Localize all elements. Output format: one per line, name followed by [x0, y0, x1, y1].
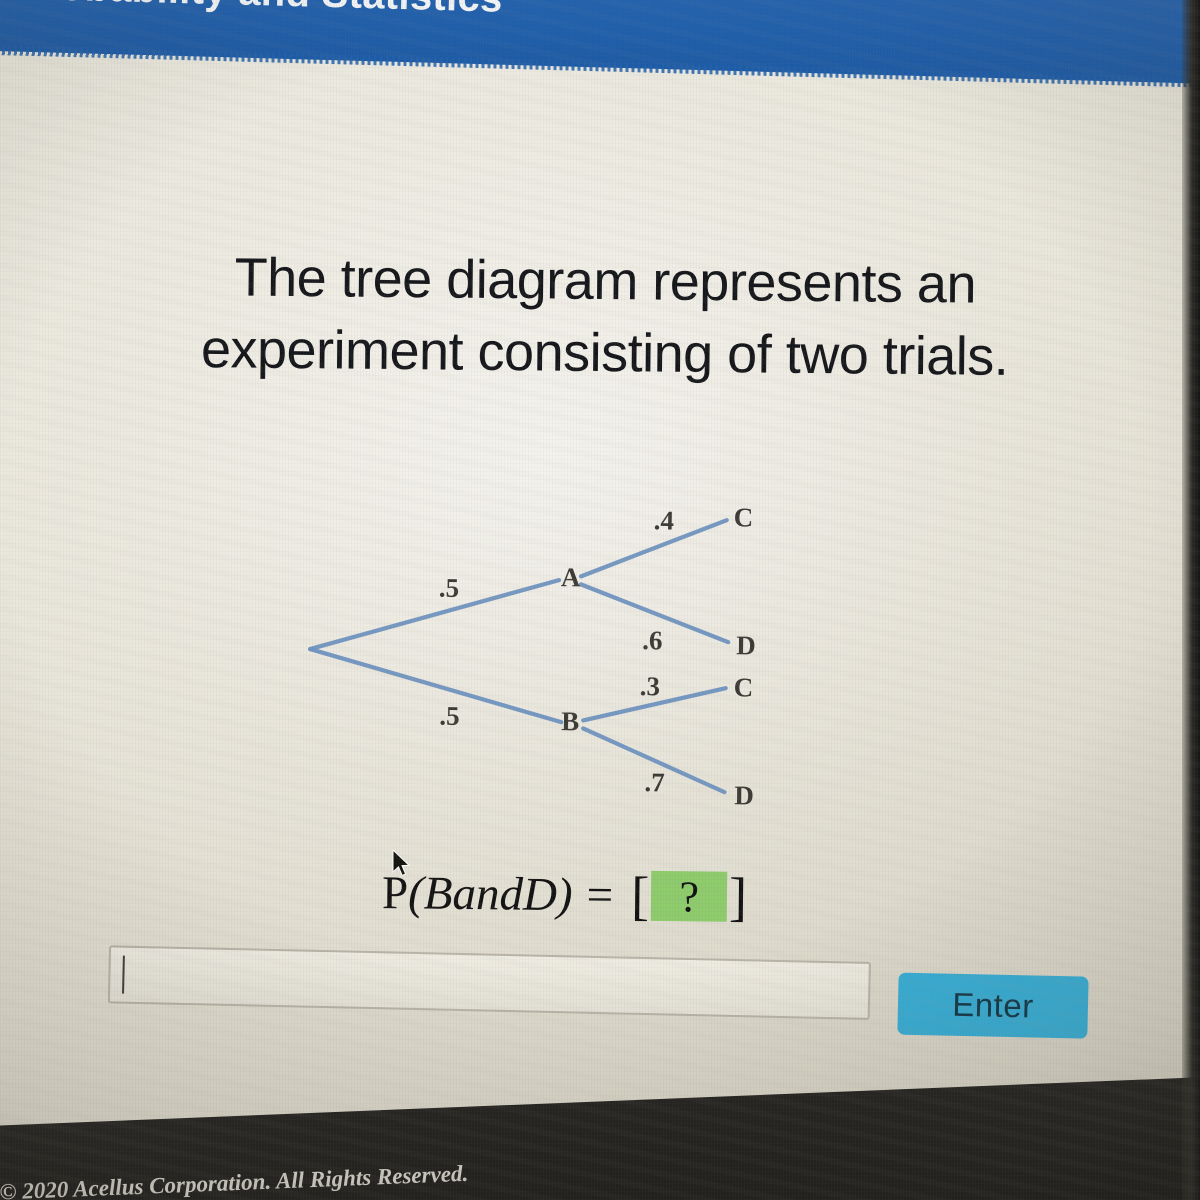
screenshot-root: Probability and Statistics The tree diag…: [0, 0, 1200, 1200]
tree-leaf-c-from-b: C: [733, 672, 753, 702]
tree-leaf-d-from-a: D: [736, 630, 756, 660]
prompt-line-2: experiment consisting of two trials.: [99, 313, 1110, 395]
tree-leaf-c-from-a: C: [734, 502, 754, 532]
equation-open-paren: (: [408, 866, 424, 920]
prob-label-b-c: .3: [640, 671, 661, 701]
enter-button[interactable]: Enter: [897, 973, 1088, 1039]
prob-label-b: .5: [439, 701, 460, 731]
branch-root-to-a: [310, 577, 559, 652]
answer-left-bracket: [: [631, 869, 650, 923]
question-prompt: The tree diagram represents an experimen…: [99, 241, 1110, 394]
equation-close-paren: ): [557, 868, 573, 922]
prob-label-a-c: .4: [654, 505, 675, 535]
equation-event-1: B: [424, 867, 453, 921]
prob-label-a-d: .6: [642, 625, 663, 655]
equation-equals-sign: =: [586, 868, 613, 922]
answer-placeholder-slot: [ ? ]: [631, 869, 748, 924]
course-title: Probability and Statistics: [17, 0, 504, 22]
prompt-line-1: The tree diagram represents an: [100, 241, 1111, 323]
text-caret: [122, 956, 125, 994]
answer-highlight-box: ?: [651, 871, 728, 922]
branch-root-to-b: [309, 649, 562, 722]
probability-equation: P(B and D) = [ ? ]: [382, 866, 748, 924]
answer-right-bracket: ]: [729, 870, 748, 924]
prob-label-a: .5: [439, 573, 460, 603]
equation-conjunction: and: [452, 867, 523, 922]
tree-node-a: A: [561, 562, 581, 592]
prob-label-b-d: .7: [644, 767, 665, 797]
probability-tree-diagram: A B C D C D .5 .5 .4 .6 .3 .7: [268, 477, 832, 844]
equation-p-symbol: P: [382, 866, 409, 920]
equation-event-2: D: [523, 868, 558, 922]
tree-leaf-d-from-b: D: [734, 780, 754, 810]
monitor-bezel-right: [1182, 0, 1200, 1200]
tree-node-b: B: [561, 706, 579, 736]
copyright-text: © 2020 Acellus Corporation. All Rights R…: [0, 1161, 469, 1200]
